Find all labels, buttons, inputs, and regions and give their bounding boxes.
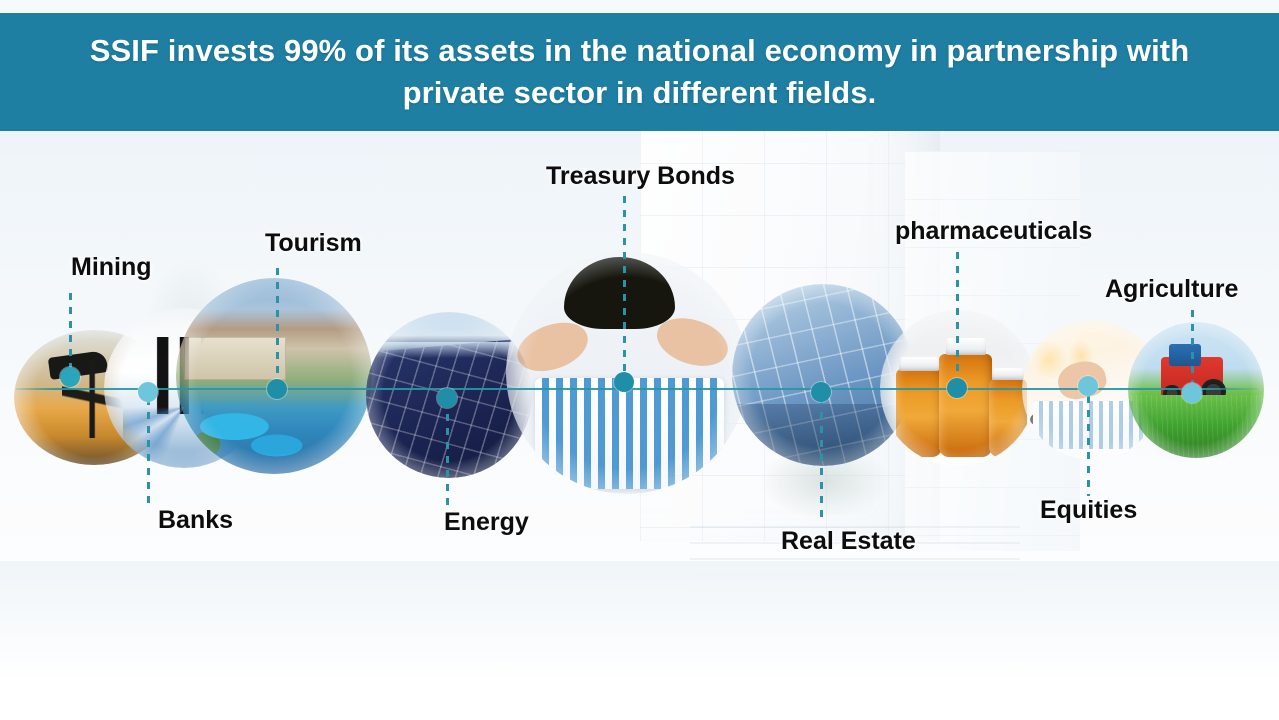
banner-title: SSIF invests 99% of its assets in the na…: [80, 30, 1200, 113]
sector-label-energy: Energy: [444, 508, 529, 537]
node-dot-tourism[interactable]: [267, 379, 287, 399]
headline-banner: SSIF invests 99% of its assets in the na…: [0, 13, 1279, 131]
sector-label-pharmaceuticals: pharmaceuticals: [895, 217, 1092, 246]
sector-image-tourism: [176, 278, 372, 474]
connector-banks: [147, 398, 150, 504]
node-dot-equities[interactable]: [1078, 376, 1098, 396]
sector-label-real-estate: Real Estate: [781, 527, 916, 556]
node-dot-mining[interactable]: [60, 367, 80, 387]
connector-tourism: [276, 268, 279, 388]
connector-treasury-bonds: [623, 196, 626, 386]
node-dot-agriculture[interactable]: [1182, 383, 1202, 403]
background-ground: [0, 561, 1279, 720]
node-dot-energy[interactable]: [437, 388, 457, 408]
node-dot-pharmaceuticals[interactable]: [947, 378, 967, 398]
connector-equities: [1087, 396, 1090, 496]
node-dot-banks[interactable]: [138, 382, 158, 402]
sector-label-treasury-bonds: Treasury Bonds: [546, 162, 735, 191]
connector-real-estate: [820, 398, 823, 524]
sector-label-agriculture: Agriculture: [1105, 275, 1238, 304]
timeline-axis: [16, 388, 1258, 390]
slide-canvas: SSIF invests 99% of its assets in the na…: [0, 0, 1279, 720]
connector-pharmaceuticals: [956, 252, 959, 380]
node-dot-real-estate[interactable]: [811, 382, 831, 402]
node-dot-treasury-bonds[interactable]: [614, 372, 634, 392]
sector-label-mining: Mining: [71, 253, 152, 282]
sector-label-tourism: Tourism: [265, 229, 362, 258]
sector-label-equities: Equities: [1040, 496, 1137, 525]
connector-agriculture: [1191, 310, 1194, 386]
connector-energy: [446, 400, 449, 506]
sector-label-banks: Banks: [158, 506, 233, 535]
